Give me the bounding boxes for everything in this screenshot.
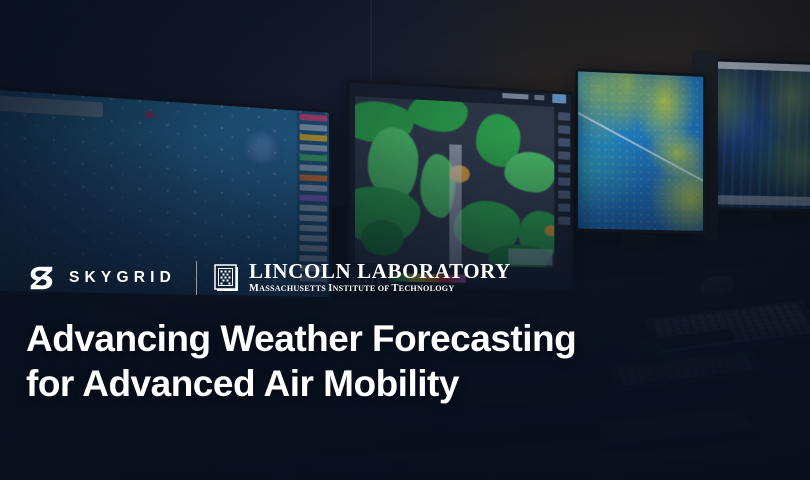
radar-map-left-rail [346,96,355,263]
monitor-heatmap-screen [575,68,706,234]
radar-map-canvas [353,96,554,267]
background-photo [0,0,810,480]
mit-lincoln-laboratory-emblem-icon [214,264,240,292]
monitor-heatmap-stand [622,233,656,253]
logo-divider [196,261,197,295]
lincoln-lab-subtitle: MASSACHUSETTS INSTITUTE OF TECHNOLOGY [249,284,511,294]
hero-banner: SKYGRID LINCOLN LABORATORY MASSACHUSE [0,0,810,480]
monitor-satellite-map-screen [707,58,810,212]
wind-map-location-pin-icon[interactable] [146,112,152,119]
radar-map-labels [353,96,554,267]
satellite-map-terrain [707,68,810,212]
page-title-line-1: Advancing Weather Forecasting [26,316,726,361]
monitor-heatmap [575,68,706,234]
skygrid-wordmark: SKYGRID [69,270,176,286]
radar-map-tool-rail[interactable] [554,107,574,268]
satellite-map-statusbar [711,195,810,206]
monitor-satellite-map [707,58,810,212]
heatmap-grid-texture [575,68,706,234]
logo-lockup: SKYGRID LINCOLN LABORATORY MASSACHUSE [26,258,726,298]
lincoln-lab-title: LINCOLN LABORATORY [249,261,511,282]
radar-map-logo-icon [552,94,566,104]
page-title-line-2: for Advanced Air Mobility [26,361,726,406]
lincoln-lab-text: LINCOLN LABORATORY MASSACHUSETTS INSTITU… [249,261,511,294]
monitor-satellite-map-stand [742,211,772,226]
hero-content: SKYGRID LINCOLN LABORATORY MASSACHUSE [26,258,726,406]
page-title: Advancing Weather Forecasting for Advanc… [26,316,726,406]
skygrid-s-mark-icon [26,263,56,293]
